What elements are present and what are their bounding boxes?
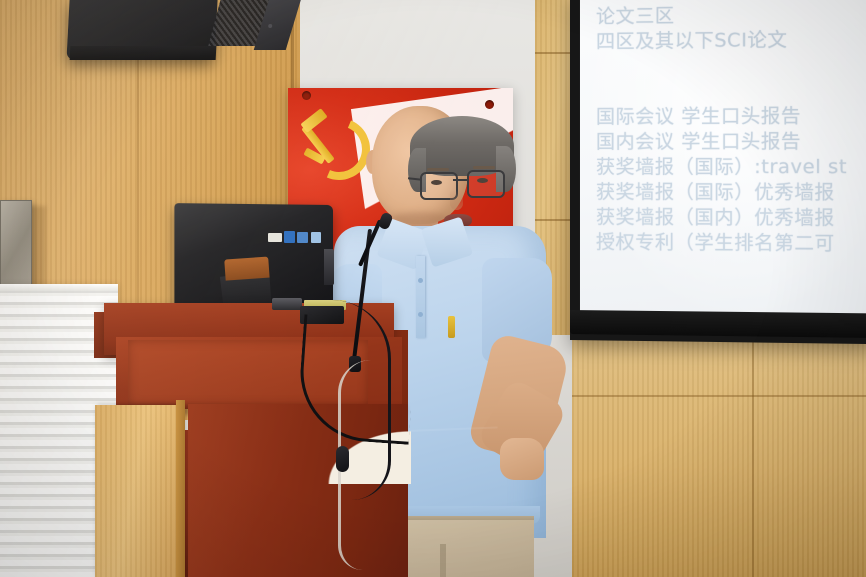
slide-spacer — [596, 52, 866, 80]
projection-screen-surface: 论文二区（部分） 论文三区 四区及其以下SCI论文 国际会议 学生口头报告 国内… — [580, 0, 866, 321]
slide-line: 四区及其以下SCI论文 — [596, 26, 866, 55]
wood-door-panel[interactable] — [95, 405, 182, 577]
metal-access-cabinet — [0, 200, 32, 287]
projection-screen: 论文二区（部分） 论文三区 四区及其以下SCI论文 国际会议 学生口头报告 国内… — [570, 0, 866, 344]
pocket-pen — [448, 316, 455, 338]
slide-line: 国际会议 学生口头报告 — [596, 103, 866, 130]
wood-panel-seam — [572, 395, 866, 397]
slide-line: 国内会议 学生口头报告 — [596, 129, 866, 155]
glasses-lens — [467, 170, 505, 198]
laptop-port-strip — [324, 249, 334, 285]
banner-grommet — [302, 91, 311, 100]
laptop-sticker — [268, 233, 282, 242]
shirt-placket — [416, 256, 425, 338]
wood-door-edge — [176, 400, 185, 577]
laptop-sticker — [284, 231, 295, 243]
glasses-bridge — [453, 179, 468, 181]
eyebrow — [427, 168, 449, 171]
laptop-sticker — [297, 232, 308, 243]
shirt-button — [418, 312, 423, 317]
slide-spacer — [596, 78, 866, 105]
trouser-seam — [440, 544, 446, 577]
hand-right — [500, 438, 544, 480]
slide-line: 获奖墙报（国际）优秀墙报 — [596, 180, 866, 206]
nose — [450, 190, 463, 210]
speaker-underside — [70, 46, 217, 60]
wood-panel-seam — [752, 332, 754, 577]
slide-line: 论文三区 — [596, 0, 866, 29]
projection-screen-bottom-bar — [570, 310, 866, 338]
blinds-top-edge — [0, 284, 118, 291]
wood-wall-panel-right — [572, 332, 866, 577]
eyebrow — [473, 166, 495, 169]
slide-line: 获奖墙报（国际）:travel st — [596, 155, 866, 181]
shirt-button — [418, 278, 423, 283]
photo-scene: 论文二区（部分） 论文三区 四区及其以下SCI论文 国际会议 学生口头报告 国内… — [0, 0, 866, 577]
slide-text-block: 论文二区（部分） 论文三区 四区及其以下SCI论文 国际会议 学生口头报告 国内… — [596, 0, 866, 258]
laptop-base-pad — [272, 298, 302, 310]
slide-line: 授权专利（学生排名第二可 — [596, 230, 866, 257]
cable-clip — [336, 446, 349, 472]
wood-panel-seam — [535, 52, 572, 54]
laptop-sticker — [311, 232, 321, 243]
head — [372, 106, 468, 224]
slide-line: 获奖墙报（国内）优秀墙报 — [596, 205, 866, 232]
